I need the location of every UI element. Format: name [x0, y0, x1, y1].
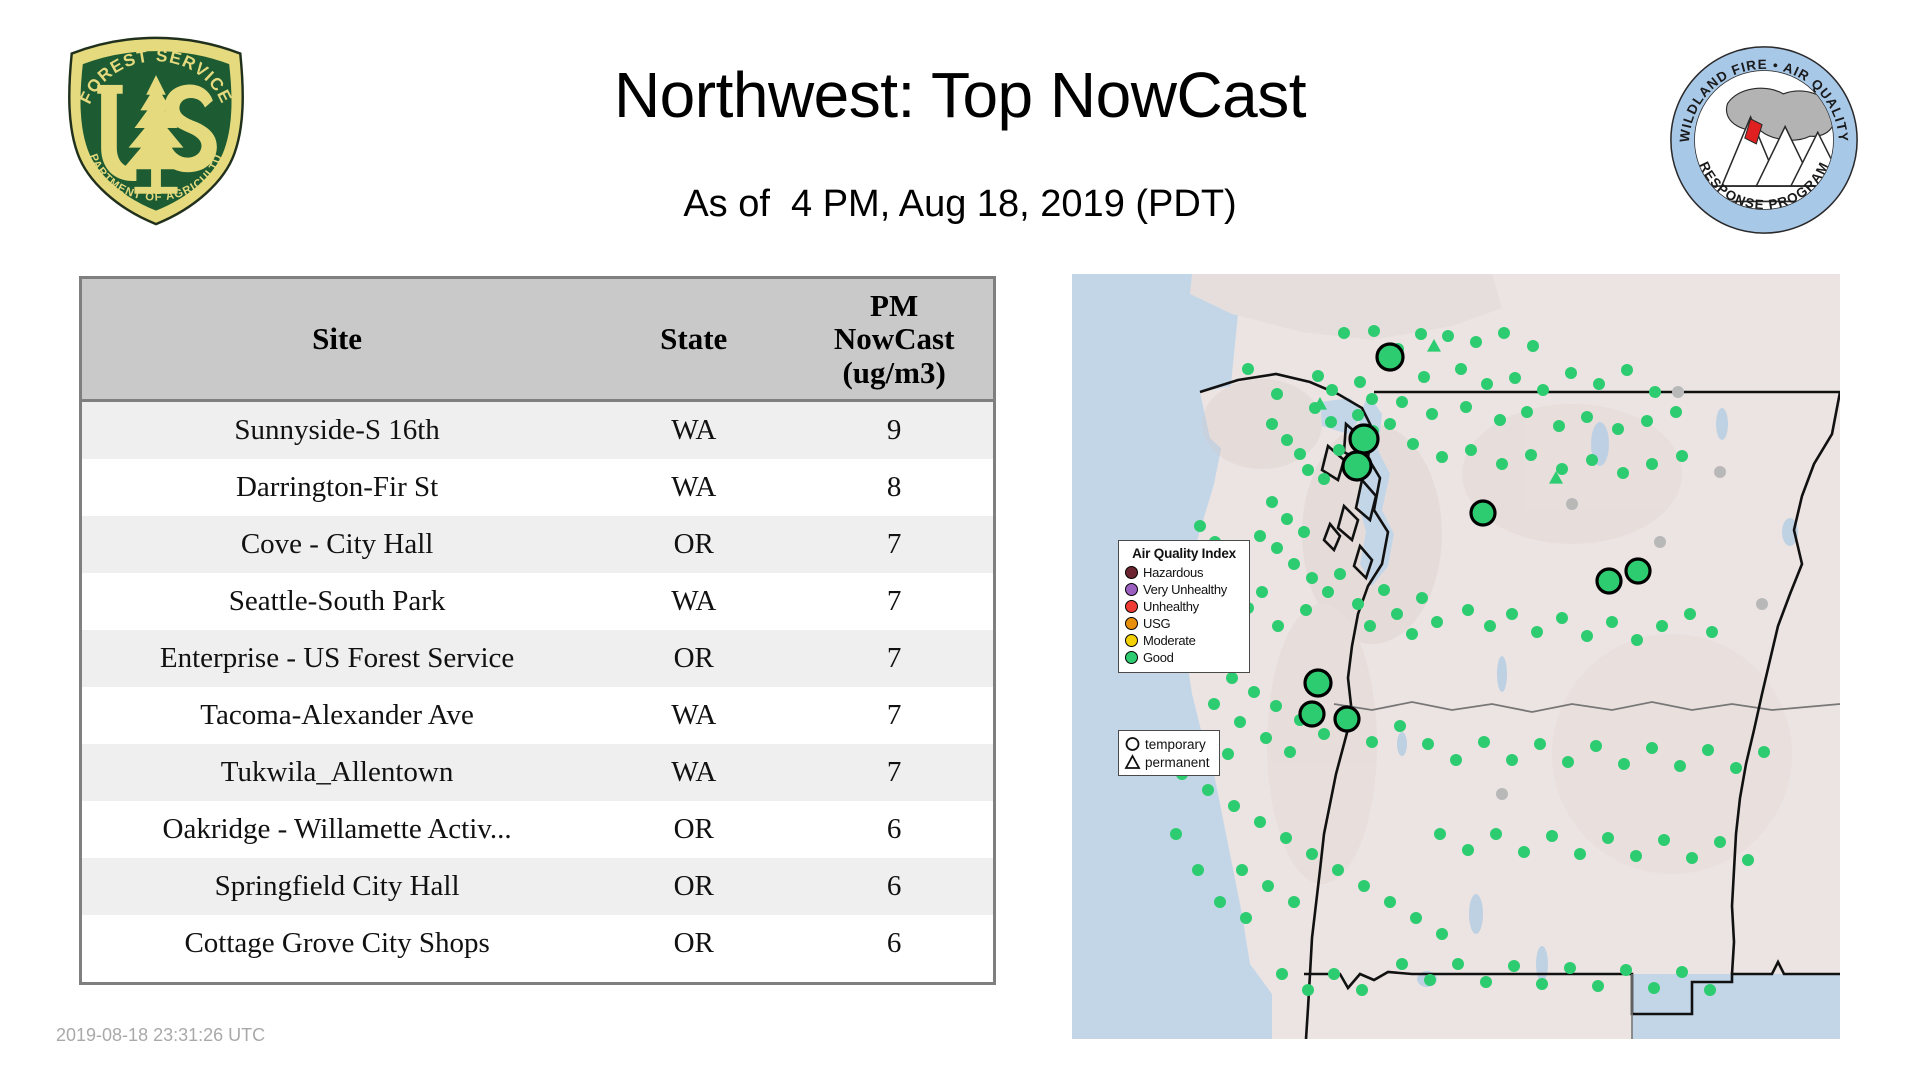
- monitor-marker: [1656, 620, 1668, 632]
- monitor-marker: [1391, 608, 1403, 620]
- cell-state: WA: [592, 401, 795, 460]
- monitor-marker: [1306, 848, 1318, 860]
- monitor-marker: [1527, 340, 1539, 352]
- monitor-marker: [1537, 384, 1549, 396]
- monitor-marker: [1254, 816, 1266, 828]
- monitor-marker: [1356, 984, 1368, 996]
- monitor-marker-highlighted: [1343, 452, 1371, 480]
- legend-entry-very-unhealthy: Very Unhealthy: [1125, 581, 1243, 598]
- table-header-row: Site State PM NowCast (ug/m3): [82, 279, 993, 401]
- monitor-marker: [1208, 698, 1220, 710]
- monitor-marker: [1352, 409, 1364, 421]
- legend-entry-hazardous: Hazardous: [1125, 564, 1243, 581]
- monitor-marker: [1202, 784, 1214, 796]
- monitor-marker: [1676, 966, 1688, 978]
- table-row: Cove - City Hall OR 7: [82, 516, 993, 573]
- monitor-marker: [1424, 974, 1436, 986]
- monitor-marker: [1509, 372, 1521, 384]
- monitor-marker: [1470, 336, 1482, 348]
- table-row: Darrington-Fir St WA 8: [82, 459, 993, 516]
- monitor-marker: [1326, 384, 1338, 396]
- monitor-marker: [1248, 686, 1260, 698]
- monitor-marker: [1593, 378, 1605, 390]
- monitor-marker: [1384, 896, 1396, 908]
- monitor-marker: [1270, 700, 1282, 712]
- cell-value: 7: [795, 744, 993, 801]
- monitor-marker: [1234, 716, 1246, 728]
- page-title: Northwest: Top NowCast: [0, 58, 1920, 132]
- monitor-marker: [1281, 434, 1293, 446]
- legend-entry-permanent: permanent: [1124, 753, 1214, 771]
- monitor-marker: [1646, 458, 1658, 470]
- aqi-dot-icon: [1125, 566, 1138, 579]
- monitor-marker: [1318, 728, 1330, 740]
- column-header-site: Site: [82, 279, 592, 401]
- cell-value: 6: [795, 801, 993, 858]
- report-timestamp: 2019-08-18 23:31:26 UTC: [56, 1025, 265, 1046]
- monitor-marker: [1170, 828, 1182, 840]
- nowcast-report-page: FOREST SERVICE DEPARTMENT OF AGRICULTURE: [0, 0, 1920, 1080]
- monitor-marker: [1455, 363, 1467, 375]
- monitor-marker: [1452, 958, 1464, 970]
- aqi-dot-icon: [1125, 583, 1138, 596]
- monitor-marker: [1328, 968, 1340, 980]
- monitor-marker: [1228, 800, 1240, 812]
- table-row: Springfield City Hall OR 6: [82, 858, 993, 915]
- monitor-marker: [1648, 982, 1660, 994]
- monitor-marker: [1674, 760, 1686, 772]
- cell-state: OR: [592, 801, 795, 858]
- monitor-marker: [1272, 620, 1284, 632]
- monitor-marker: [1478, 736, 1490, 748]
- monitor-marker: [1494, 414, 1506, 426]
- monitor-marker: [1581, 411, 1593, 423]
- monitor-marker: [1498, 327, 1510, 339]
- legend-entry-temporary: temporary: [1124, 735, 1214, 753]
- cell-state: OR: [592, 915, 795, 972]
- cell-state: OR: [592, 516, 795, 573]
- monitor-marker: [1462, 844, 1474, 856]
- monitor-marker: [1436, 451, 1448, 463]
- monitor-marker: [1556, 612, 1568, 624]
- monitor-marker: [1684, 608, 1696, 620]
- monitor-marker: [1525, 449, 1537, 461]
- monitor-marker: [1294, 448, 1306, 460]
- monitor-marker: [1518, 846, 1530, 858]
- monitor-marker: [1521, 406, 1533, 418]
- monitor-marker: [1322, 586, 1334, 598]
- monitor-marker: [1581, 630, 1593, 642]
- monitor-marker: [1422, 738, 1434, 750]
- cell-site: Seattle-South Park: [82, 573, 592, 630]
- cell-site: Tacoma-Alexander Ave: [82, 687, 592, 744]
- monitor-marker: [1534, 738, 1546, 750]
- monitor-marker: [1506, 754, 1518, 766]
- monitor-marker: [1312, 370, 1324, 382]
- cell-site: Cove - City Hall: [82, 516, 592, 573]
- monitor-marker: [1236, 864, 1248, 876]
- monitor-marker: [1406, 628, 1418, 640]
- monitor-marker: [1318, 473, 1330, 485]
- monitor-marker: [1284, 746, 1296, 758]
- monitor-marker-highlighted: [1377, 344, 1403, 370]
- cell-state: OR: [592, 858, 795, 915]
- aqi-dot-icon: [1125, 600, 1138, 613]
- monitor-marker: [1704, 984, 1716, 996]
- monitor-marker: [1260, 732, 1272, 744]
- legend-entry-good: Good: [1125, 649, 1243, 666]
- monitor-marker-highlighted: [1335, 707, 1359, 731]
- monitor-marker: [1590, 740, 1602, 752]
- triangle-icon: [1124, 754, 1141, 770]
- aqi-dot-icon: [1125, 634, 1138, 647]
- monitor-marker-highlighted: [1300, 702, 1324, 726]
- monitor-marker: [1508, 960, 1520, 972]
- monitor-marker: [1288, 896, 1300, 908]
- monitor-marker: [1612, 423, 1624, 435]
- monitor-marker: [1484, 620, 1496, 632]
- monitor-marker: [1302, 984, 1314, 996]
- aqi-dot-icon: [1125, 651, 1138, 664]
- monitor-marker: [1617, 467, 1629, 479]
- table-row: Tukwila_Allentown WA 7: [82, 744, 993, 801]
- monitor-marker: [1496, 458, 1508, 470]
- monitor-marker: [1333, 444, 1345, 456]
- cell-value: 6: [795, 915, 993, 972]
- monitor-marker: [1266, 496, 1278, 508]
- monitor-marker: [1562, 756, 1574, 768]
- monitor-marker: [1531, 626, 1543, 638]
- monitor-marker: [1262, 880, 1274, 892]
- monitor-marker: [1606, 616, 1618, 628]
- legend-entry-unhealthy: Unhealthy: [1125, 598, 1243, 615]
- monitor-marker: [1354, 376, 1366, 388]
- monitor-marker: [1300, 604, 1312, 616]
- monitor-marker: [1641, 415, 1653, 427]
- monitor-marker: [1676, 450, 1688, 462]
- monitor-marker: [1465, 444, 1477, 456]
- monitor-marker: [1266, 418, 1278, 430]
- monitor-marker: [1706, 626, 1718, 638]
- cell-site: Oakridge - Willamette Activ...: [82, 801, 592, 858]
- monitor-marker: [1338, 327, 1350, 339]
- cell-site: Springfield City Hall: [82, 858, 592, 915]
- cell-value: 6: [795, 858, 993, 915]
- monitor-marker: [1546, 830, 1558, 842]
- cell-value: 7: [795, 687, 993, 744]
- monitor-marker: [1490, 828, 1502, 840]
- monitor-marker: [1431, 616, 1443, 628]
- legend-entry-usg: USG: [1125, 615, 1243, 632]
- cell-state: WA: [592, 459, 795, 516]
- monitor-marker: [1396, 958, 1408, 970]
- cell-state: WA: [592, 744, 795, 801]
- monitor-marker: [1352, 598, 1364, 610]
- monitor-marker: [1556, 463, 1568, 475]
- monitor-marker: [1418, 371, 1430, 383]
- monitor-marker: [1646, 742, 1658, 754]
- monitor-marker: [1574, 848, 1586, 860]
- monitor-marker-highlighted: [1471, 501, 1495, 525]
- table-body: Sunnyside-S 16th WA 9 Darrington-Fir St …: [82, 401, 993, 973]
- cell-site: Darrington-Fir St: [82, 459, 592, 516]
- table-row: Seattle-South Park WA 7: [82, 573, 993, 630]
- monitor-map: Air Quality Index Hazardous Very Unhealt…: [1072, 274, 1840, 1039]
- monitor-marker: [1670, 406, 1682, 418]
- monitor-marker: [1450, 754, 1462, 766]
- monitor-marker: [1214, 896, 1226, 908]
- monitor-marker: [1658, 834, 1670, 846]
- column-header-pm-nowcast: PM NowCast (ug/m3): [795, 279, 993, 401]
- top-nowcast-table: Site State PM NowCast (ug/m3) Sunnyside-…: [79, 276, 996, 985]
- monitor-marker: [1242, 363, 1254, 375]
- monitor-marker: [1586, 454, 1598, 466]
- monitor-marker: [1415, 328, 1427, 340]
- monitor-marker: [1565, 367, 1577, 379]
- monitor-marker: [1288, 558, 1300, 570]
- table-row: Tacoma-Alexander Ave WA 7: [82, 687, 993, 744]
- monitor-marker: [1631, 634, 1643, 646]
- monitor-marker: [1564, 962, 1576, 974]
- monitor-marker: [1714, 836, 1726, 848]
- monitor-marker: [1462, 604, 1474, 616]
- monitor-marker: [1742, 854, 1754, 866]
- page-subtitle: As of 4 PM, Aug 18, 2019 (PDT): [0, 183, 1920, 226]
- monitor-marker: [1621, 364, 1633, 376]
- monitor-marker: [1407, 438, 1419, 450]
- monitor-marker: [1325, 416, 1337, 428]
- monitor-marker: [1302, 464, 1314, 476]
- cell-value: 8: [795, 459, 993, 516]
- monitor-marker: [1222, 748, 1234, 760]
- monitor-marker: [1416, 592, 1428, 604]
- monitor-marker: [1434, 828, 1446, 840]
- legend-entry-moderate: Moderate: [1125, 632, 1243, 649]
- monitor-marker: [1280, 832, 1292, 844]
- cell-state: WA: [592, 573, 795, 630]
- aqi-dot-icon: [1125, 617, 1138, 630]
- monitor-marker: [1384, 418, 1396, 430]
- cell-value: 9: [795, 401, 993, 460]
- monitor-marker: [1281, 513, 1293, 525]
- cell-site: Cottage Grove City Shops: [82, 915, 592, 972]
- monitor-marker: [1298, 526, 1310, 538]
- monitor-marker: [1240, 912, 1252, 924]
- monitor-marker: [1306, 572, 1318, 584]
- monitor-marker: [1460, 401, 1472, 413]
- cell-site: Sunnyside-S 16th: [82, 401, 592, 460]
- monitor-marker: [1592, 980, 1604, 992]
- table-row: Oakridge - Willamette Activ... OR 6: [82, 801, 993, 858]
- monitor-marker: [1481, 378, 1493, 390]
- monitor-marker: [1506, 608, 1518, 620]
- monitor-marker: [1256, 586, 1268, 598]
- monitor-marker-highlighted: [1597, 569, 1621, 593]
- monitor-marker: [1192, 864, 1204, 876]
- table-row: Cottage Grove City Shops OR 6: [82, 915, 993, 972]
- monitor-marker: [1602, 832, 1614, 844]
- monitor-marker: [1378, 584, 1390, 596]
- monitor-marker: [1332, 864, 1344, 876]
- monitor-marker: [1394, 720, 1406, 732]
- monitor-marker: [1758, 746, 1770, 758]
- monitor-marker: [1686, 852, 1698, 864]
- monitor-marker: [1410, 912, 1422, 924]
- cell-state: OR: [592, 630, 795, 687]
- monitor-marker: [1254, 530, 1266, 542]
- monitor-marker: [1276, 968, 1288, 980]
- monitor-marker: [1436, 928, 1448, 940]
- monitor-marker: [1553, 420, 1565, 432]
- monitor-marker: [1368, 325, 1380, 337]
- monitor-marker: [1442, 330, 1454, 342]
- monitor-marker: [1271, 542, 1283, 554]
- monitor-marker: [1536, 978, 1548, 990]
- table-row: Enterprise - US Forest Service OR 7: [82, 630, 993, 687]
- cell-site: Tukwila_Allentown: [82, 744, 592, 801]
- monitor-marker-highlighted: [1350, 425, 1378, 453]
- monitor-marker-highlighted: [1626, 559, 1650, 583]
- monitor-marker: [1649, 386, 1661, 398]
- monitor-marker: [1358, 880, 1370, 892]
- monitor-marker: [1366, 393, 1378, 405]
- cell-site: Enterprise - US Forest Service: [82, 630, 592, 687]
- monitor-marker: [1366, 736, 1378, 748]
- monitor-marker: [1271, 388, 1283, 400]
- monitor-marker: [1426, 408, 1438, 420]
- monitor-marker: [1480, 976, 1492, 988]
- monitor-marker: [1618, 758, 1630, 770]
- monitor-marker: [1620, 964, 1632, 976]
- cell-value: 7: [795, 630, 993, 687]
- monitor-marker: [1364, 620, 1376, 632]
- monitor-marker: [1194, 520, 1206, 532]
- monitor-marker: [1334, 568, 1346, 580]
- monitor-marker: [1226, 672, 1238, 684]
- circle-icon: [1124, 736, 1141, 752]
- monitor-marker-highlighted: [1305, 670, 1331, 696]
- cell-value: 7: [795, 516, 993, 573]
- legend-title: Air Quality Index: [1125, 546, 1243, 561]
- monitor-marker: [1730, 762, 1742, 774]
- monitor-marker: [1702, 744, 1714, 756]
- column-header-state: State: [592, 279, 795, 401]
- cell-state: WA: [592, 687, 795, 744]
- air-quality-index-legend: Air Quality Index Hazardous Very Unhealt…: [1118, 540, 1250, 673]
- monitor-marker: [1396, 396, 1408, 408]
- table-row: Sunnyside-S 16th WA 9: [82, 401, 993, 460]
- monitor-marker: [1630, 850, 1642, 862]
- monitor-type-legend: temporary permanent: [1118, 730, 1220, 776]
- cell-value: 7: [795, 573, 993, 630]
